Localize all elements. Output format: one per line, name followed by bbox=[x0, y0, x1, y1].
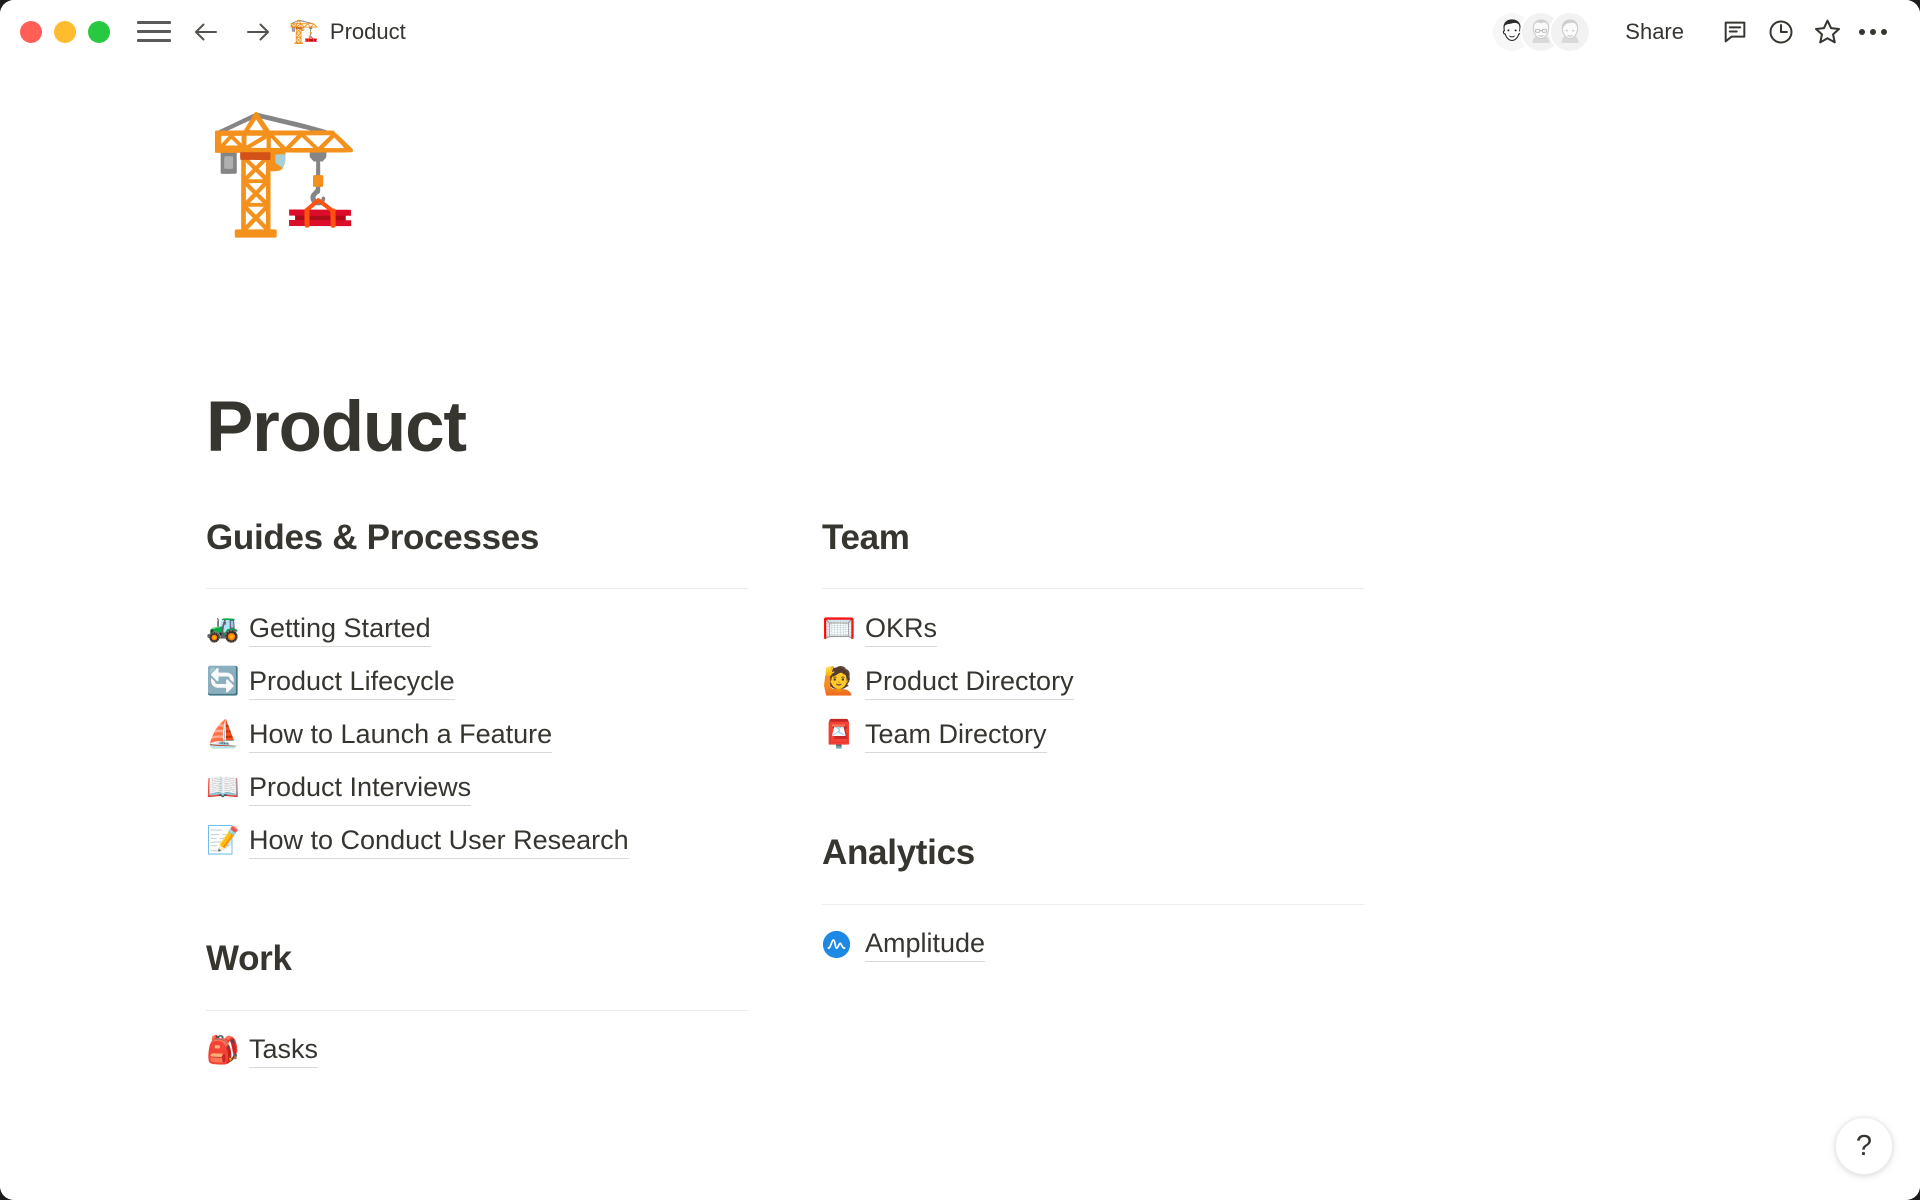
section-work: Work 🎒 Tasks bbox=[206, 939, 748, 1076]
list-item-label: Team Directory bbox=[865, 717, 1047, 753]
titlebar: 🏗️ Product bbox=[0, 0, 1920, 63]
list-item-label: Getting Started bbox=[249, 611, 431, 647]
list-item[interactable]: ⛵ How to Launch a Feature bbox=[206, 708, 748, 761]
tractor-icon: 🚜 bbox=[206, 615, 242, 642]
titlebar-actions: Share bbox=[1491, 11, 1896, 53]
window-controls bbox=[20, 21, 110, 43]
comment-icon[interactable] bbox=[1712, 11, 1758, 53]
crane-icon: 🏗️ bbox=[289, 20, 319, 44]
list-item[interactable]: 🚜 Getting Started bbox=[206, 602, 748, 655]
section-guides-processes: Guides & Processes 🚜 Getting Started 🔄 P… bbox=[206, 518, 748, 867]
person-raising-hand-icon: 🙋 bbox=[822, 668, 858, 695]
section-heading: Team bbox=[822, 518, 1364, 561]
section-divider bbox=[822, 588, 1364, 589]
list-item-label: Amplitude bbox=[865, 926, 985, 962]
page-title[interactable]: Product bbox=[206, 392, 466, 463]
close-window-button[interactable] bbox=[20, 21, 42, 43]
section-heading: Work bbox=[206, 939, 748, 982]
column-layout: Guides & Processes 🚜 Getting Started 🔄 P… bbox=[206, 518, 1366, 1077]
postbox-icon: 📮 bbox=[822, 721, 858, 748]
list-item[interactable]: 📮 Team Directory bbox=[822, 708, 1364, 761]
list-item[interactable]: 🙋 Product Directory bbox=[822, 655, 1364, 708]
list-item-label: Product Directory bbox=[865, 664, 1074, 700]
help-button[interactable]: ? bbox=[1835, 1117, 1893, 1175]
maximize-window-button[interactable] bbox=[88, 21, 110, 43]
left-column: Guides & Processes 🚜 Getting Started 🔄 P… bbox=[206, 518, 748, 1077]
collaborator-avatars[interactable] bbox=[1491, 11, 1591, 53]
list-item-label: Product Interviews bbox=[249, 770, 471, 806]
list-item-label: How to Launch a Feature bbox=[249, 717, 552, 753]
back-arrow-icon[interactable] bbox=[189, 15, 223, 49]
goal-net-icon: 🥅 bbox=[822, 615, 858, 642]
list-item[interactable]: 📖 Product Interviews bbox=[206, 761, 748, 814]
forward-arrow-icon[interactable] bbox=[241, 15, 275, 49]
list-item-label: OKRs bbox=[865, 611, 937, 647]
sidebar-toggle-icon[interactable] bbox=[137, 17, 171, 47]
arrows-counterclockwise-icon: 🔄 bbox=[206, 668, 242, 695]
list-item[interactable]: 📝 How to Conduct User Research bbox=[206, 814, 748, 867]
breadcrumb[interactable]: 🏗️ Product bbox=[289, 19, 406, 45]
open-book-icon: 📖 bbox=[206, 774, 242, 801]
section-heading: Guides & Processes bbox=[206, 518, 748, 561]
page-content: 🏗️ Product Guides & Processes 🚜 Getting … bbox=[0, 63, 1920, 1200]
list-item-label: Tasks bbox=[249, 1032, 318, 1068]
list-item[interactable]: 🥅 OKRs bbox=[822, 602, 1364, 655]
minimize-window-button[interactable] bbox=[54, 21, 76, 43]
section-analytics: Analytics Amplitude bbox=[822, 833, 1364, 970]
section-divider bbox=[206, 588, 748, 589]
memo-icon: 📝 bbox=[206, 827, 242, 854]
amplitude-logo-icon bbox=[822, 930, 858, 959]
page-crane-icon[interactable]: 🏗️ bbox=[206, 108, 360, 232]
list-item[interactable]: Amplitude bbox=[822, 918, 1364, 971]
history-clock-icon[interactable] bbox=[1758, 11, 1804, 53]
share-button[interactable]: Share bbox=[1613, 13, 1696, 51]
sailboat-icon: ⛵ bbox=[206, 721, 242, 748]
list-item[interactable]: 🎒 Tasks bbox=[206, 1024, 748, 1077]
list-item-label: Product Lifecycle bbox=[249, 664, 455, 700]
list-item-label: How to Conduct User Research bbox=[249, 823, 629, 859]
section-divider bbox=[822, 904, 1364, 905]
section-divider bbox=[206, 1010, 748, 1011]
right-column: Team 🥅 OKRs 🙋 Product Directory 📮 Team D… bbox=[822, 518, 1364, 1077]
list-item[interactable]: 🔄 Product Lifecycle bbox=[206, 655, 748, 708]
breadcrumb-title: Product bbox=[330, 19, 406, 45]
star-icon[interactable] bbox=[1804, 11, 1850, 53]
section-team: Team 🥅 OKRs 🙋 Product Directory 📮 Team D… bbox=[822, 518, 1364, 761]
backpack-icon: 🎒 bbox=[206, 1037, 242, 1064]
app-window: 🏗️ Product bbox=[0, 0, 1920, 1200]
more-options-icon[interactable] bbox=[1850, 11, 1896, 53]
avatar[interactable] bbox=[1549, 11, 1591, 53]
section-heading: Analytics bbox=[822, 833, 1364, 876]
